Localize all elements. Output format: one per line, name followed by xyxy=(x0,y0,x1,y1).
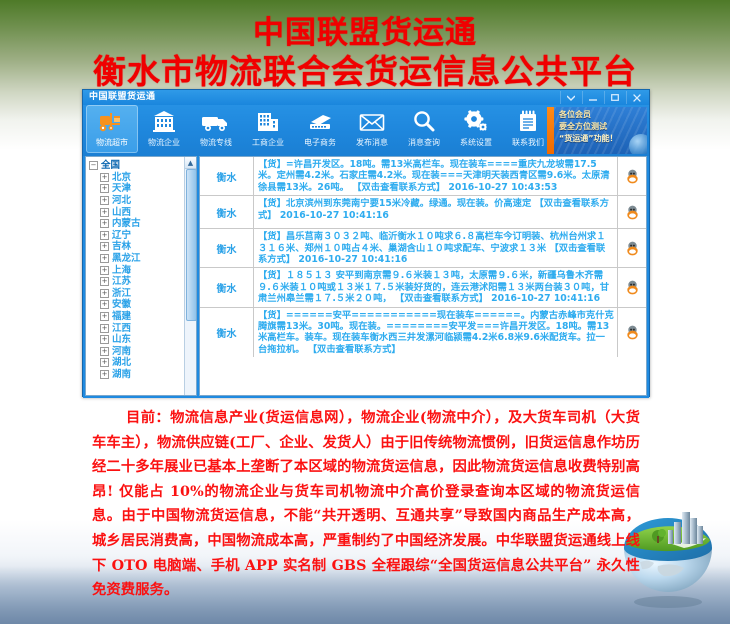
tree-node-zhejiang[interactable]: +浙江 xyxy=(89,288,194,300)
qq-icon[interactable] xyxy=(626,325,639,340)
row-city: 衡水 xyxy=(200,196,254,228)
envelope-icon xyxy=(358,108,386,135)
row-message: 【货】=许昌开发区。18吨。需13米高栏车。现在装车====重庆九龙坡需17.5… xyxy=(254,157,617,195)
tree-expander-icon[interactable]: + xyxy=(100,184,109,193)
page-title-block: 中国联盟货运通 衡水市物流联合会货运信息公共平台 xyxy=(0,16,730,91)
gear-icon xyxy=(463,108,489,135)
tree-node-henan[interactable]: +河南 xyxy=(89,346,194,358)
search-icon xyxy=(412,108,436,135)
tree-expander-icon[interactable]: + xyxy=(100,347,109,356)
tree-node-label: 江苏 xyxy=(112,276,131,287)
tree-node-jiangsu[interactable]: +江苏 xyxy=(89,276,194,288)
toolbar-item-label: 联系我们 xyxy=(512,137,544,148)
tree-node-label: 吉林 xyxy=(112,241,131,252)
tree-node-label: 福建 xyxy=(112,311,131,322)
tree-node-hubei[interactable]: +湖北 xyxy=(89,357,194,369)
row-message: 【货】北京滨州到东莞南宁要15米冷藏。绿通。现在装。价高速定 【双击查看联系方式… xyxy=(254,196,617,228)
tree-node-label: 浙江 xyxy=(112,288,131,299)
page-title-line1: 中国联盟货运通 xyxy=(0,16,730,50)
tree-node-tianjin[interactable]: +天津 xyxy=(89,183,194,195)
table-row[interactable]: 衡水 【货】北京滨州到东莞南宁要15米冷藏。绿通。现在装。价高速定 【双击查看联… xyxy=(200,196,646,229)
row-message: 【货】昌乐莒南３０３２吨、临沂衡水１０吨求６.８高栏车今订明装、杭州台州求１３１… xyxy=(254,229,617,267)
row-qq-cell[interactable] xyxy=(617,268,646,306)
tree-node-label: 山西 xyxy=(112,207,131,218)
window-body: − 全国 +北京 +天津 +河北 +山西 +内蒙古 +辽宁 +吉林 +黑龙江 +… xyxy=(83,156,649,398)
toolbar-item-system-settings[interactable]: 系统设置 xyxy=(450,105,502,153)
tree-expander-icon[interactable]: + xyxy=(100,324,109,333)
tree-node-anhui[interactable]: +安徽 xyxy=(89,299,194,311)
toolbar-item-label: 发布消息 xyxy=(356,137,388,148)
forklift-icon xyxy=(98,108,126,135)
tree-node-hebei[interactable]: +河北 xyxy=(89,195,194,207)
sidebar-scrollbar[interactable]: ▲ xyxy=(184,157,196,395)
tree-expander-icon[interactable]: + xyxy=(100,277,109,286)
row-message: 【货】１８５１３ 安平到南京需９.６米装１３吨，太原需９.６米，新疆乌鲁木齐需９… xyxy=(254,268,617,306)
tree-expander-icon[interactable]: − xyxy=(89,161,98,170)
maximize-icon[interactable] xyxy=(604,91,625,104)
banner-body: 各位会员 要全方位测试 “货运通”功能！ xyxy=(554,107,647,154)
tree-node-jiangxi[interactable]: +江西 xyxy=(89,322,194,334)
chevron-down-icon[interactable] xyxy=(560,91,581,104)
tree-node-label: 黑龙江 xyxy=(112,253,141,264)
cargo-message-list: 衡水 【货】=许昌开发区。18吨。需13米高栏车。现在装车====重庆九龙坡需1… xyxy=(199,156,647,396)
member-notice-banner[interactable]: 各位会员 要全方位测试 “货运通”功能！ xyxy=(547,107,647,154)
tree-node-label: 河南 xyxy=(112,346,131,357)
tree-node-label: 北京 xyxy=(112,172,131,183)
banner-line-2: 要全方位测试 xyxy=(559,121,618,133)
tree-node-liaoning[interactable]: +辽宁 xyxy=(89,230,194,242)
toolbar-item-label: 电子商务 xyxy=(304,137,336,148)
toolbar-item-label: 工商企业 xyxy=(252,137,284,148)
tree-expander-icon[interactable]: + xyxy=(100,358,109,367)
qq-icon[interactable] xyxy=(626,169,639,184)
tree-node-fujian[interactable]: +福建 xyxy=(89,311,194,323)
toolbar-item-message-query[interactable]: 消息查询 xyxy=(398,105,450,153)
tree-expander-icon[interactable]: + xyxy=(100,312,109,321)
tree-node-shanghai[interactable]: +上海 xyxy=(89,264,194,276)
tree-expander-icon[interactable]: + xyxy=(100,242,109,251)
tree-node-shanxi[interactable]: +山西 xyxy=(89,206,194,218)
tree-node-beijing[interactable]: +北京 xyxy=(89,172,194,184)
window-titlebar: 中国联盟货运通 xyxy=(83,90,649,105)
row-qq-cell[interactable] xyxy=(617,229,646,267)
toolbar-item-logistics-line[interactable]: 物流专线 xyxy=(190,105,242,153)
main-toolbar: 物流超市 物流企业 xyxy=(83,105,649,156)
window-title: 中国联盟货运通 xyxy=(89,91,156,104)
banner-line-3: “货运通”功能！ xyxy=(559,133,618,145)
row-qq-cell[interactable] xyxy=(617,157,646,195)
row-qq-cell[interactable] xyxy=(617,196,646,228)
tree-node-label: 安徽 xyxy=(112,299,131,310)
toolbar-item-label: 系统设置 xyxy=(460,137,492,148)
region-tree: − 全国 +北京 +天津 +河北 +山西 +内蒙古 +辽宁 +吉林 +黑龙江 +… xyxy=(86,157,196,380)
tree-node-hunan[interactable]: +湖南 xyxy=(89,369,194,381)
qq-icon[interactable] xyxy=(626,280,639,295)
toolbar-item-publish-message[interactable]: 发布消息 xyxy=(346,105,398,153)
row-city: 衡水 xyxy=(200,268,254,306)
building-icon xyxy=(151,108,177,135)
tree-node-label: 河北 xyxy=(112,195,131,206)
row-qq-cell[interactable] xyxy=(617,308,646,358)
row-city: 衡水 xyxy=(200,157,254,195)
table-row[interactable]: 衡水 【货】１８５１３ 安平到南京需９.６米装１３吨，太原需９.６米，新疆乌鲁木… xyxy=(200,268,646,307)
page-title-line2: 衡水市物流联合会货运信息公共平台 xyxy=(0,53,730,91)
banner-text: 各位会员 要全方位测试 “货运通”功能！ xyxy=(559,109,618,145)
tree-expander-icon[interactable]: + xyxy=(100,231,109,240)
notepad-icon xyxy=(516,108,540,135)
tree-node-label: 辽宁 xyxy=(112,230,131,241)
tree-expander-icon[interactable]: + xyxy=(100,289,109,298)
tree-node-label: 全国 xyxy=(101,160,120,171)
tree-node-root[interactable]: − 全国 xyxy=(89,160,194,172)
tree-expander-icon[interactable]: + xyxy=(100,335,109,344)
tree-expander-icon[interactable]: + xyxy=(100,266,109,275)
tree-node-label: 天津 xyxy=(112,183,131,194)
tree-node-heilongjiang[interactable]: +黑龙江 xyxy=(89,253,194,265)
toolbar-item-label: 消息查询 xyxy=(408,137,440,148)
table-row[interactable]: 衡水 【货】======安平===========现在装车======。内蒙古赤… xyxy=(200,308,646,358)
pos-terminal-icon xyxy=(306,108,334,135)
toolbar-item-logistics-company[interactable]: 物流企业 xyxy=(138,105,190,153)
region-tree-sidebar: − 全国 +北京 +天津 +河北 +山西 +内蒙古 +辽宁 +吉林 +黑龙江 +… xyxy=(85,156,197,396)
toolbar-item-ecommerce[interactable]: 电子商务 xyxy=(294,105,346,153)
promotional-paragraph: 目前：物流信息产业(货运信息网），物流企业(物流中介），及大货车司机（大货车车主… xyxy=(92,406,640,603)
banner-globe-icon xyxy=(629,134,647,154)
qq-icon[interactable] xyxy=(626,241,639,256)
tree-expander-icon[interactable]: + xyxy=(100,196,109,205)
toolbar-item-label: 物流专线 xyxy=(200,137,232,148)
table-row[interactable]: 衡水 【货】=许昌开发区。18吨。需13米高栏车。现在装车====重庆九龙坡需1… xyxy=(200,157,646,196)
tree-expander-icon[interactable]: + xyxy=(100,173,109,182)
row-city: 衡水 xyxy=(200,308,254,358)
toolbar-item-industrial-company[interactable]: 工商企业 xyxy=(242,105,294,153)
tree-expander-icon[interactable]: + xyxy=(100,219,109,228)
tree-node-label: 湖北 xyxy=(112,357,131,368)
tree-node-label: 内蒙古 xyxy=(112,218,141,229)
application-window: 中国联盟货运通 xyxy=(82,89,650,397)
toolbar-item-label: 物流超市 xyxy=(96,137,128,148)
banner-line-1: 各位会员 xyxy=(559,109,618,121)
tree-node-inner-mongolia[interactable]: +内蒙古 xyxy=(89,218,194,230)
row-message: 【货】======安平===========现在装车======。内蒙古赤峰市克… xyxy=(254,308,617,358)
office-icon xyxy=(255,108,281,135)
toolbar-item-logistics-market[interactable]: 物流超市 xyxy=(86,105,138,153)
tree-node-label: 江西 xyxy=(112,323,131,334)
tree-expander-icon[interactable]: + xyxy=(100,254,109,263)
qq-icon[interactable] xyxy=(626,205,639,220)
toolbar-item-label: 物流企业 xyxy=(148,137,180,148)
tree-node-label: 湖南 xyxy=(112,369,131,380)
banner-accent-bar xyxy=(547,107,554,154)
tree-expander-icon[interactable]: + xyxy=(100,208,109,217)
tree-node-shandong[interactable]: +山东 xyxy=(89,334,194,346)
row-city: 衡水 xyxy=(200,229,254,267)
tree-node-label: 山东 xyxy=(112,334,131,345)
tree-node-jilin[interactable]: +吉林 xyxy=(89,241,194,253)
scrollbar-thumb[interactable] xyxy=(186,169,197,321)
minimize-icon[interactable] xyxy=(582,91,603,104)
truck-icon xyxy=(201,108,231,135)
tree-node-label: 上海 xyxy=(112,265,131,276)
tree-expander-icon[interactable]: + xyxy=(100,370,109,379)
close-icon[interactable] xyxy=(626,91,647,104)
window-controls xyxy=(559,90,647,105)
scroll-up-icon[interactable]: ▲ xyxy=(185,157,196,169)
tree-expander-icon[interactable]: + xyxy=(100,300,109,309)
table-row[interactable]: 衡水 【货】昌乐莒南３０３２吨、临沂衡水１０吨求６.８高栏车今订明装、杭州台州求… xyxy=(200,229,646,268)
